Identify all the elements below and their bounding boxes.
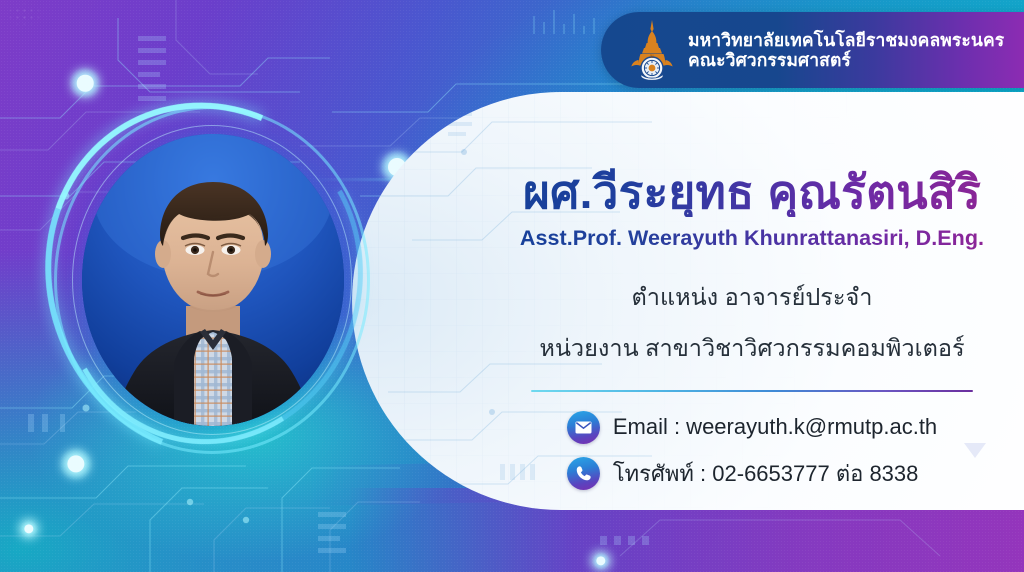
profile-card: ม มหาวิทยาลัยเทคโนโลยีราชมงคลพระนคร คณะว… xyxy=(0,0,1024,572)
contact-row-phone[interactable]: โทรศัพท์ : 02-6653777 ต่อ 8338 xyxy=(567,456,919,491)
banner-text-block: มหาวิทยาลัยเทคโนโลยีราชมงคลพระนคร คณะวิศ… xyxy=(688,30,1004,71)
avatar xyxy=(82,134,344,426)
contact-email-text: Email : weerayuth.k@rmutp.ac.th xyxy=(613,414,937,440)
svg-text:ม: ม xyxy=(650,54,654,60)
profile-content: ผศ.วีระยุทธ คุณรัตนสิริ Asst.Prof. Weera… xyxy=(502,92,1002,510)
divider xyxy=(531,390,973,392)
department-line: หน่วยงาน สาขาวิชาวิศวกรรมคอมพิวเตอร์ xyxy=(539,330,964,367)
content-panel: ผศ.วีระยุทธ คุณรัตนสิริ Asst.Prof. Weera… xyxy=(352,92,1024,510)
banner-faculty-name: คณะวิศวกรรมศาสตร์ xyxy=(688,50,1004,70)
corner-triangle-accent xyxy=(964,443,986,458)
contact-list: Email : weerayuth.k@rmutp.ac.th โทรศัพท์… xyxy=(567,411,937,491)
phone-icon[interactable] xyxy=(567,457,600,490)
contact-phone-text: โทรศัพท์ : 02-6653777 ต่อ 8338 xyxy=(613,456,919,491)
rmutp-royal-emblem-icon: ม xyxy=(629,19,675,81)
contact-row-email[interactable]: Email : weerayuth.k@rmutp.ac.th xyxy=(567,411,937,444)
banner-university-name: มหาวิทยาลัยเทคโนโลยีราชมงคลพระนคร xyxy=(688,30,1004,50)
name-english: Asst.Prof. Weerayuth Khunrattanasiri, D.… xyxy=(520,226,984,251)
portrait-container xyxy=(48,100,376,460)
email-icon[interactable] xyxy=(567,411,600,444)
role-line: ตำแหน่ง อาจารย์ประจำ xyxy=(632,279,873,316)
page-title: ผศ.วีระยุทธ คุณรัตนสิริ xyxy=(523,168,981,217)
university-banner: ม มหาวิทยาลัยเทคโนโลยีราชมงคลพระนคร คณะว… xyxy=(601,12,1024,88)
